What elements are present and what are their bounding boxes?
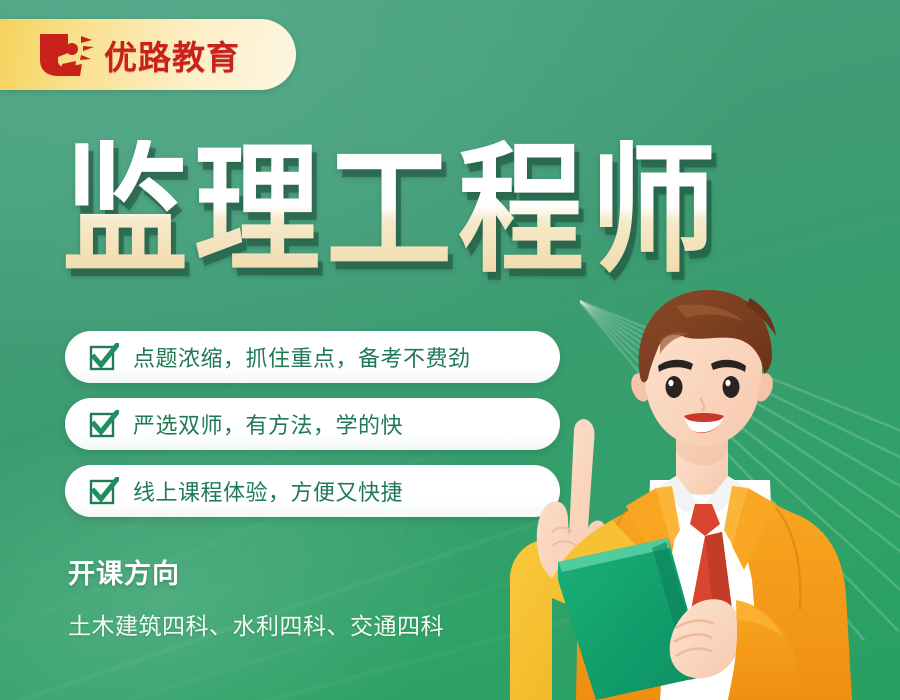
brand-name: 优路教育 bbox=[104, 31, 240, 79]
man-in-orange-suit-pointing-up-holding-book bbox=[500, 280, 900, 700]
checkbox-checked-icon bbox=[89, 410, 119, 438]
checkbox-checked-icon bbox=[89, 477, 119, 505]
list-item-label: 严选双师，有方法，学的快 bbox=[133, 408, 403, 440]
hero-title-wrapper: 监理工程师 bbox=[62, 140, 852, 290]
poster-canvas: 优路教育 监理工程师 点题浓缩，抓住重点，备考不费劲 严选双师，有方法，学的快 bbox=[0, 0, 900, 700]
list-item[interactable]: 严选双师，有方法，学的快 bbox=[65, 398, 560, 450]
page-title: 监理工程师 bbox=[62, 140, 722, 281]
list-item-label: 点题浓缩，抓住重点，备考不费劲 bbox=[133, 341, 471, 373]
course-directions-subjects: 土木建筑四科、水利四科、交通四科 bbox=[68, 607, 444, 641]
list-item[interactable]: 线上课程体验，方便又快捷 bbox=[65, 465, 560, 517]
feature-list: 点题浓缩，抓住重点，备考不费劲 严选双师，有方法，学的快 线上课程体验，方便又快… bbox=[65, 331, 560, 532]
course-directions-heading: 开课方向 bbox=[68, 552, 444, 591]
list-item[interactable]: 点题浓缩，抓住重点，备考不费劲 bbox=[65, 331, 560, 383]
youlu-sun-book-logo-icon bbox=[36, 31, 96, 79]
brand-logo-pill[interactable]: 优路教育 bbox=[0, 19, 296, 90]
list-item-label: 线上课程体验，方便又快捷 bbox=[133, 475, 403, 507]
checkbox-checked-icon bbox=[89, 343, 119, 371]
course-directions-block: 开课方向 土木建筑四科、水利四科、交通四科 bbox=[68, 552, 444, 641]
